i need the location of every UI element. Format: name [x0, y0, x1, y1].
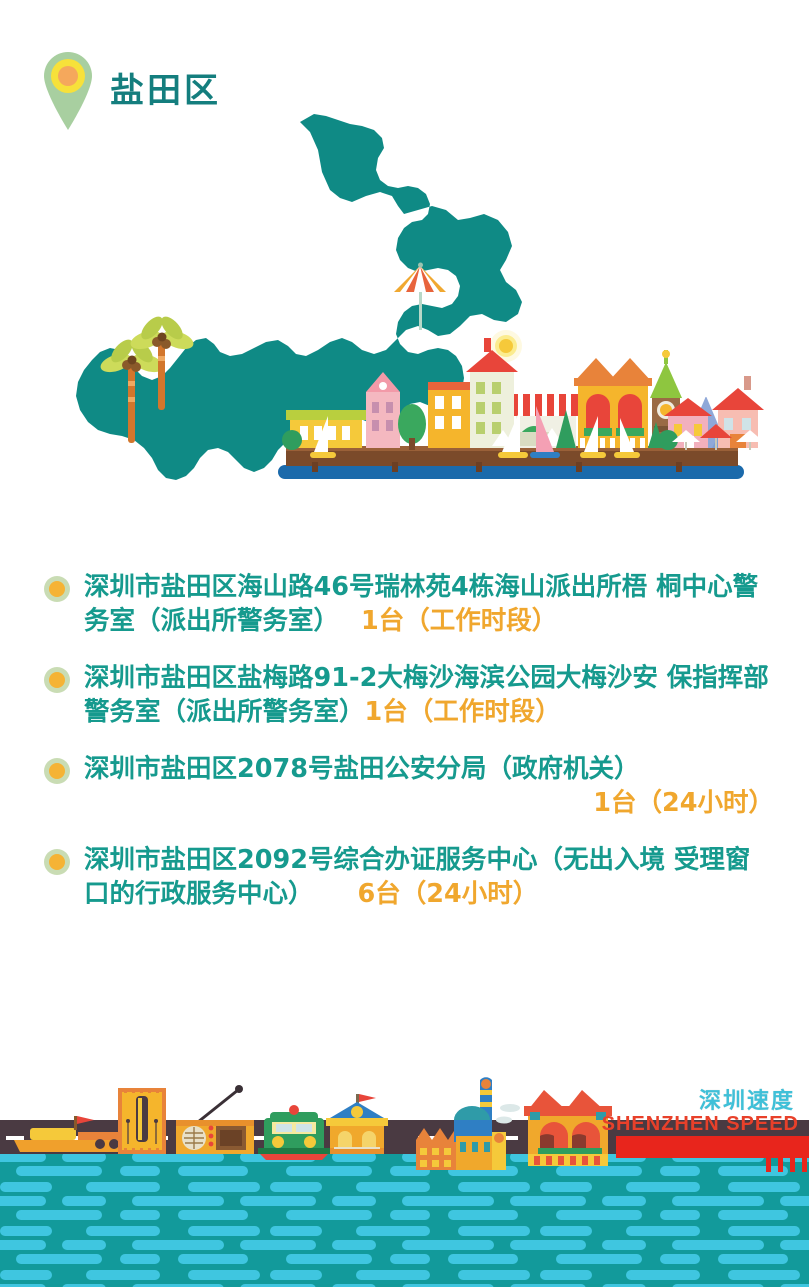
quantity-label: 1台（工作时段） [365, 697, 561, 727]
page-title: 盐田区 [110, 74, 221, 108]
brand-name-en: SHENZHEN SPEED [602, 1113, 799, 1136]
list-item-text: 深圳市盐田区海山路46号瑞林苑4栋海山派出所梧 桐中心警务室（派出所警务室）1台… [84, 570, 774, 639]
footer-illustration [0, 1050, 809, 1287]
list-item[interactable]: 深圳市盐田区2092号综合办证服务中心（无出入境 受理窗口的行政服务中心）6台（… [44, 843, 774, 912]
quantity-label: 1台（工作时段） [361, 606, 557, 636]
quantity-label: 6台（24小时） [358, 879, 539, 909]
brand-name-cn: 深圳速度 [699, 1083, 795, 1115]
bullet-icon [44, 576, 70, 602]
map-illustration: Yantian [0, 110, 809, 530]
map-label: Yantian [152, 264, 305, 316]
bullet-icon [44, 667, 70, 693]
quantity-label: 1台（24小时） [84, 786, 774, 820]
oil-painting-icon [118, 1088, 166, 1154]
sea-strip [278, 465, 744, 479]
list-item[interactable]: 深圳市盐田区盐梅路91-2大梅沙海滨公园大梅沙安 保指挥部警务室（派出所警务室）… [44, 661, 774, 730]
list-item-text: 深圳市盐田区2092号综合办证服务中心（无出入境 受理窗口的行政服务中心）6台（… [84, 843, 774, 912]
location-list: 深圳市盐田区海山路46号瑞林苑4栋海山派出所梧 桐中心警务室（派出所警务室）1台… [44, 570, 774, 933]
infographic-page: 盐田区 Yantian [0, 0, 809, 1287]
bullet-icon [44, 849, 70, 875]
address-line-1: 深圳市盐田区盐梅路91-2大梅沙海滨公园大梅沙安 [84, 663, 658, 693]
bullet-icon [44, 758, 70, 784]
address-line-1: 深圳市盐田区2092号综合办证服务中心（无出入境 [84, 845, 665, 875]
list-item-text: 深圳市盐田区盐梅路91-2大梅沙海滨公园大梅沙安 保指挥部警务室（派出所警务室）… [84, 661, 774, 730]
list-item[interactable]: 深圳市盐田区海山路46号瑞林苑4栋海山派出所梧 桐中心警务室（派出所警务室）1台… [44, 570, 774, 639]
address-line-1: 深圳市盐田区海山路46号瑞林苑4栋海山派出所梧 [84, 572, 647, 602]
list-item[interactable]: 深圳市盐田区2078号盐田公安分局（政府机关） 1台（24小时） [44, 752, 774, 821]
water-waves [0, 1154, 809, 1287]
list-item-text: 深圳市盐田区2078号盐田公安分局（政府机关） 1台（24小时） [84, 752, 774, 821]
address-line-1: 深圳市盐田区2078号盐田公安分局（政府机关） [84, 754, 639, 784]
